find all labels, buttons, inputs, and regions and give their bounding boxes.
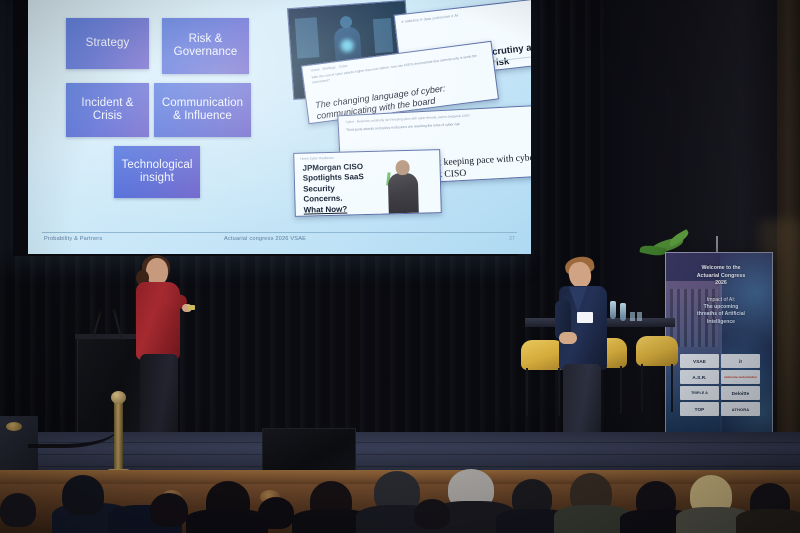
slide-footer-left: Probability & Partners: [44, 236, 103, 242]
slide-footer-center: Actuarial congress 2026 VSAE: [224, 236, 306, 242]
banner-theme-text: Impact of AI: The upcoming threaths of A…: [685, 297, 757, 326]
banner-theme-highlight-2: threaths of Artificial: [697, 311, 745, 317]
sponsor-logo: VSAE: [680, 354, 719, 368]
bar-stool-leg: [526, 368, 528, 416]
brass-ornament: [6, 422, 22, 431]
banner-welcome-line-1: Welcome to the: [701, 265, 740, 271]
audience-member: [186, 509, 268, 533]
news-card-headline-line-1: JPMorgan CISO: [302, 162, 363, 173]
photo-light-bar: [295, 17, 320, 58]
sponsor-logo: nationale-nederlanden: [721, 370, 760, 384]
news-card-headline-line-3: Security Concerns.: [303, 184, 343, 204]
stage-monitor-speaker: [262, 428, 356, 476]
sponsor-logo: ATHORA: [721, 402, 760, 416]
audience-member: [736, 509, 800, 533]
slide-footer-rule: [42, 232, 517, 233]
banner-welcome-text: Welcome to the Actuarial Congress 2026: [685, 265, 757, 288]
banner-welcome-line-3: 2026: [715, 280, 727, 286]
banner-theme-highlight-1: The upcoming: [704, 304, 739, 310]
news-card-jpmorgan-ciso: Home Cyber Resilience JPMorgan CISO Spot…: [293, 149, 442, 217]
bar-stool-leg: [641, 364, 643, 412]
presenter-head: [146, 258, 168, 285]
sponsor-logo: Deloitte: [721, 386, 760, 400]
slide-box-technological-insight: Technological insight: [114, 146, 200, 198]
photo-light-bar-2: [373, 18, 393, 53]
presenter-hands: [559, 332, 577, 344]
banner-sponsor-logos: VSAE it A.S.R. nationale-nederlanden TRI…: [680, 354, 760, 416]
sponsor-logo: TOP: [680, 402, 719, 416]
bar-stool: [636, 336, 678, 366]
banner-welcome-line-2: Actuarial Congress: [697, 273, 746, 279]
audience-head: [0, 493, 36, 527]
drinking-glass: [630, 312, 635, 321]
bar-stool-seat: [636, 336, 678, 366]
presentation-slide: Strategy Risk & Governance Incident & Cr…: [28, 0, 531, 254]
audience-head: [258, 497, 294, 529]
news-card-headline-line-2: Spotlights SaaS: [303, 173, 364, 184]
banner-theme-line: Impact of AI:: [707, 297, 735, 303]
stanchion-finial: [111, 391, 126, 404]
presentation-clicker: [188, 305, 195, 310]
projection-screen: Strategy Risk & Governance Incident & Cr…: [13, 0, 519, 256]
slide-box-communication-influence-label: Communication & Influence: [162, 97, 243, 123]
news-card-headline: JPMorgan CISO Spotlights SaaS Security C…: [302, 162, 375, 216]
slide-page-number: 37: [509, 236, 515, 242]
slide-box-technological-insight-label: Technological insight: [122, 159, 193, 185]
slide-box-risk-governance-label: Risk & Governance: [174, 33, 238, 59]
banner-theme-highlight-3: Intelligence: [707, 319, 735, 325]
audience-head: [414, 499, 450, 529]
presenter-name-badge: [577, 312, 593, 323]
presenter-lapel: [569, 287, 587, 313]
drinking-glass: [637, 312, 642, 321]
sponsor-logo: A.S.R.: [680, 370, 719, 384]
slide-box-incident-crisis-label: Incident & Crisis: [81, 97, 133, 123]
rope-stanchion: [114, 400, 123, 472]
audience-head: [150, 493, 188, 527]
news-card-portrait: [388, 173, 419, 214]
slide-box-risk-governance: Risk & Governance: [162, 18, 249, 74]
slide-box-incident-crisis: Incident & Crisis: [66, 83, 149, 137]
sponsor-logo: it: [721, 354, 760, 368]
banner-text-panel: Welcome to the Actuarial Congress 2026 I…: [685, 265, 757, 326]
sponsor-logo: TRIPLE A: [680, 386, 719, 400]
audience: [0, 480, 800, 533]
slide-box-communication-influence: Communication & Influence: [154, 83, 251, 137]
news-card-kicker: # industry # data protection # AI: [401, 4, 531, 24]
news-card-headline-link: What Now?: [304, 204, 348, 214]
audience-head: [62, 475, 104, 515]
rollup-banner: Welcome to the Actuarial Congress 2026 I…: [665, 252, 773, 448]
conference-stage-photo: Strategy Risk & Governance Incident & Cr…: [0, 0, 800, 533]
slide-box-strategy: Strategy: [66, 18, 149, 69]
news-card-kicker: Home Cyber Resilience: [300, 153, 439, 161]
bar-stool-leg: [671, 364, 673, 412]
